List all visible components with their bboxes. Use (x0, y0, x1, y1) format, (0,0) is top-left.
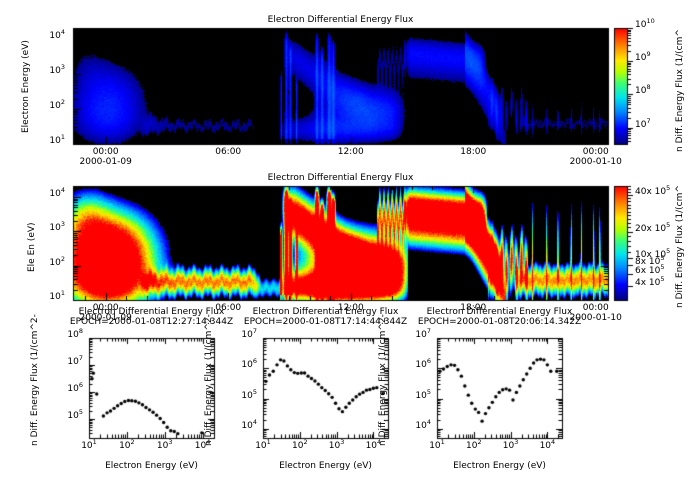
middle-ytick-label: 102 (49, 259, 65, 268)
middle-colorbar-tick: 40x 105 (635, 188, 670, 197)
top-colorbar-tick: 107 (635, 121, 651, 130)
spectrum-subtitle-3: EPOCH=2000-01-08T20:06:14.342Z (418, 318, 581, 327)
spectrum-xtick-3: 104 (540, 442, 556, 451)
middle-colorbar-tick: 4x 105 (635, 279, 665, 288)
spectrum-ytick-2: 105 (241, 392, 257, 401)
spectrum-xtick-3: 103 (503, 442, 519, 451)
spectrum-ytick-1: 107 (67, 358, 83, 367)
spectrum-ytick-3: 106 (415, 361, 431, 370)
spectrum-title-3: Electron Differential Energy Flux (427, 308, 573, 317)
spectrum-ytick-2: 107 (241, 331, 257, 340)
top-ytick-label: 102 (49, 102, 65, 111)
top-xtick-time: 00:00 (93, 148, 119, 157)
spectrum-title-2: Electron Differential Energy Flux (253, 308, 399, 317)
spectrum-ytick-3: 107 (415, 331, 431, 340)
top-colorbar-tick: 108 (635, 87, 651, 96)
middle-panel-title: Electron Differential Energy Flux (268, 174, 414, 183)
spectrum-title-1: Electron Differential Energy Flux (79, 308, 225, 317)
figure-root: Electron Differential Energy Flux1011021… (0, 0, 697, 492)
spectrum-ytick-3: 104 (415, 422, 431, 431)
top-xtick-time: 12:00 (338, 148, 364, 157)
spectrum-xtick-3: 101 (429, 442, 445, 451)
middle-colorbar-tick: 10x 105 (635, 251, 670, 260)
top-xtick-date: 2000-01-10 (570, 158, 622, 167)
middle-colorbar-label: n Diff. Energy Flux (1/(cm^ (676, 185, 685, 308)
spectrum-ytick-1: 106 (67, 385, 83, 394)
middle-xtick-time: 00:00 (583, 304, 609, 313)
spectrum-xtick-1: 102 (119, 442, 135, 451)
spectrum-xtick-2: 102 (292, 442, 308, 451)
middle-colorbar-tick: 20x 105 (635, 225, 670, 234)
spectrum-ytick-2: 104 (241, 422, 257, 431)
top-colorbar-label: n Diff. Energy Flux (1/(cm^ (676, 29, 685, 152)
top-ytick-label: 101 (49, 137, 65, 146)
middle-ylabel: Ele En (eV) (28, 222, 37, 272)
spectrum-ytick-1: 105 (67, 412, 83, 421)
top-ytick-label: 104 (49, 32, 65, 41)
spectrum-ylabel-2: n Diff. Energy Flux (1/(cm^2- (205, 314, 214, 446)
spectrum-xtick-1: 103 (157, 442, 173, 451)
top-panel-title: Electron Differential Energy Flux (268, 16, 414, 25)
middle-ytick-label: 103 (49, 224, 65, 233)
middle-colorbar-tick: 6x 105 (635, 267, 665, 276)
plot-canvas (0, 0, 697, 492)
top-xtick-time: 00:00 (583, 148, 609, 157)
top-colorbar-tick: 109 (635, 54, 651, 63)
top-xtick-date: 2000-01-09 (80, 158, 132, 167)
spectrum-xtick-2: 103 (329, 442, 345, 451)
spectrum-xlabel-1: Electron Energy (eV) (105, 462, 198, 471)
spectrum-ytick-2: 106 (241, 361, 257, 370)
spectrum-ylabel-1: n Diff. Energy Flux (1/(cm^2- (31, 314, 40, 446)
spectrum-ylabel-3: n Diff. Energy Flux (1/(cm^2- (379, 314, 388, 446)
spectrum-ytick-3: 105 (415, 392, 431, 401)
middle-ytick-label: 101 (49, 293, 65, 302)
spectrum-ytick-1: 108 (67, 331, 83, 340)
spectrum-xtick-1: 101 (81, 442, 97, 451)
top-xtick-time: 18:00 (460, 148, 486, 157)
spectrum-xlabel-3: Electron Energy (eV) (453, 462, 546, 471)
top-ytick-label: 103 (49, 67, 65, 76)
top-colorbar-tick: 1010 (635, 21, 655, 30)
top-ylabel: Electron Energy (eV) (22, 40, 31, 133)
spectrum-xlabel-2: Electron Energy (eV) (279, 462, 372, 471)
spectrum-xtick-2: 101 (255, 442, 271, 451)
top-xtick-time: 06:00 (215, 148, 241, 157)
spectrum-xtick-3: 102 (466, 442, 482, 451)
middle-ytick-label: 104 (49, 190, 65, 199)
